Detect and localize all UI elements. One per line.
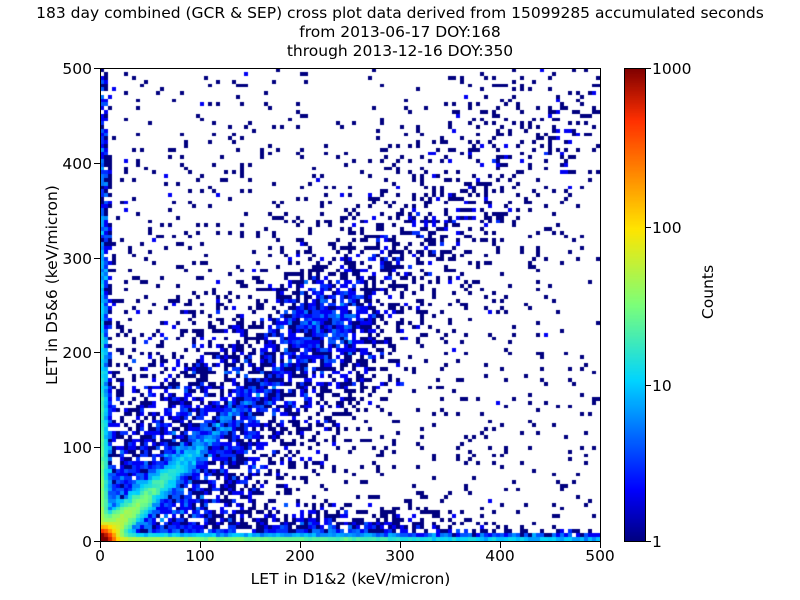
x-tick-label-400: 400: [470, 547, 530, 565]
y-tick-label-100: 100: [62, 439, 92, 457]
colorbar-tick-1000: [646, 68, 651, 69]
colorbar-label-1: 1: [652, 533, 662, 551]
colorbar-title: Counts: [699, 222, 717, 362]
colorbar: [624, 68, 646, 542]
y-tick-label-400: 400: [62, 155, 92, 173]
colorbar-tick-100: [646, 227, 651, 228]
y-tick-label-200: 200: [62, 344, 92, 362]
title-line-2: from 2013-06-17 DOY:168: [0, 23, 800, 42]
colorbar-frame: [624, 68, 646, 542]
colorbar-tick-10: [646, 385, 651, 386]
x-tick-label-200: 200: [270, 547, 330, 565]
y-axis-label: LET in D5&6 (keV/micron): [43, 115, 61, 455]
title-line-3: through 2013-12-16 DOY:350: [0, 42, 800, 61]
plot-axes-area: [100, 68, 601, 542]
density-heatmap: [101, 69, 600, 541]
colorbar-label-1000: 1000: [652, 60, 691, 78]
colorbar-label-10: 10: [652, 377, 672, 395]
colorbar-tick-1: [646, 541, 651, 542]
figure-canvas: 183 day combined (GCR & SEP) cross plot …: [0, 0, 800, 600]
x-tick-label-500: 500: [570, 547, 630, 565]
x-tick-label-100: 100: [170, 547, 230, 565]
x-tick-label-0: 0: [70, 547, 130, 565]
plot-title: 183 day combined (GCR & SEP) cross plot …: [0, 4, 800, 61]
y-tick-label-500: 500: [62, 60, 92, 78]
y-tick-label-300: 300: [62, 250, 92, 268]
colorbar-label-100: 100: [652, 219, 682, 237]
title-line-1: 183 day combined (GCR & SEP) cross plot …: [0, 4, 800, 23]
x-axis-label: LET in D1&2 (keV/micron): [100, 570, 601, 588]
x-tick-label-300: 300: [370, 547, 430, 565]
